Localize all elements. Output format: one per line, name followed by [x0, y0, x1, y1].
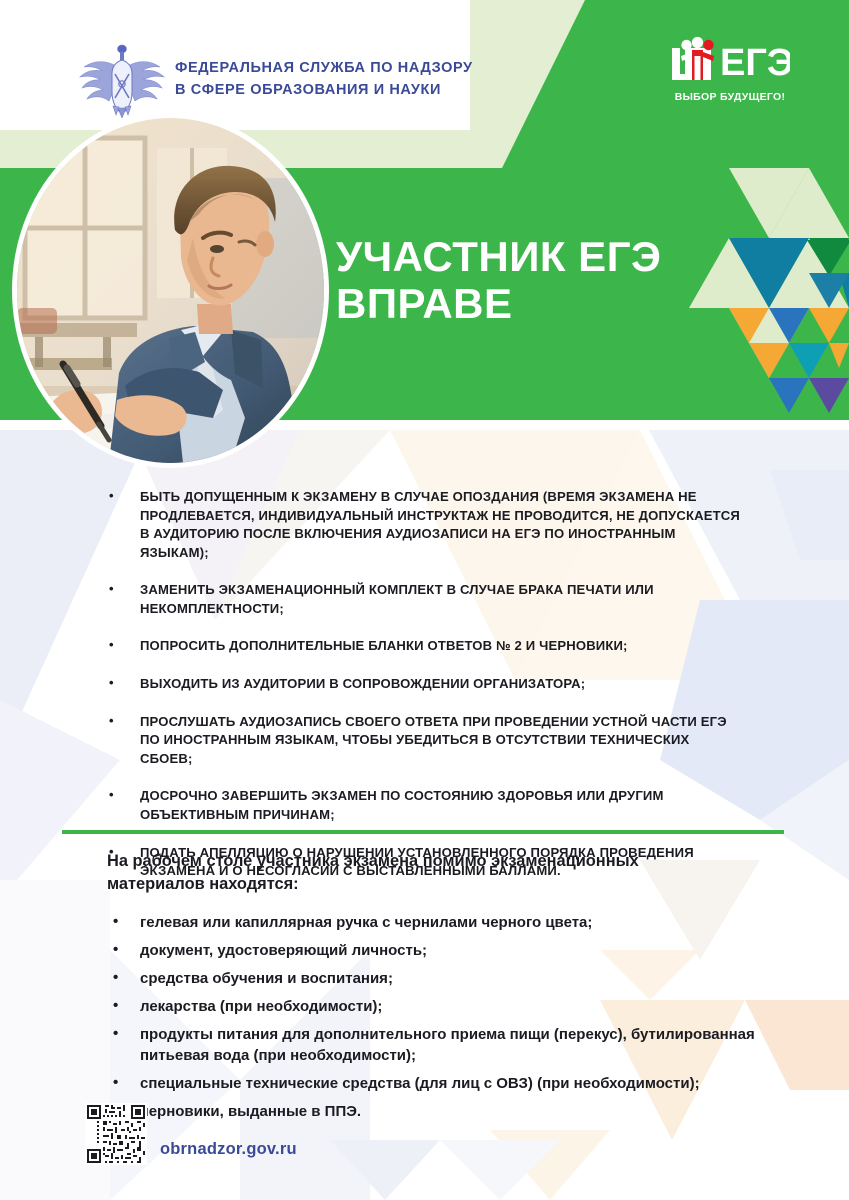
- qr-code[interactable]: [85, 1103, 147, 1165]
- content-area: БЫТЬ ДОПУЩЕННЫМ К ЭКЗАМЕНУ В СЛУЧАЕ ОПОЗ…: [0, 420, 849, 1200]
- list-item: лекарства (при необходимости);: [104, 996, 764, 1017]
- list-item: гелевая или капиллярная ручка с чернилам…: [104, 912, 764, 933]
- section-divider: [62, 830, 784, 834]
- list-item: БЫТЬ ДОПУЩЕННЫМ К ЭКЗАМЕНУ В СЛУЧАЕ ОПОЗ…: [104, 488, 744, 562]
- ege-slogan: ВЫБОР БУДУЩЕГО!: [664, 91, 796, 103]
- student-writing-exam-photo: [17, 118, 324, 463]
- list-item: ПОПРОСИТЬ ДОПОЛНИТЕЛЬНЫЕ БЛАНКИ ОТВЕТОВ …: [104, 637, 744, 656]
- list-item: ЗАМЕНИТЬ ЭКЗАМЕНАЦИОННЫЙ КОМПЛЕКТ В СЛУЧ…: [104, 581, 744, 618]
- list-item: средства обучения и воспитания;: [104, 968, 764, 989]
- svg-text:ЕГЭ: ЕГЭ: [720, 42, 790, 84]
- rosobrnadzor-eagle-emblem: [76, 40, 168, 118]
- ege-logo: ЕГЭ: [668, 34, 790, 86]
- rights-list: БЫТЬ ДОПУЩЕННЫМ К ЭКЗАМЕНУ В СЛУЧАЕ ОПОЗ…: [104, 488, 744, 900]
- list-item: черновики, выданные в ППЭ.: [104, 1101, 764, 1122]
- triangle-mosaic-decoration: [689, 168, 849, 453]
- list-item: документ, удостоверяющий личность;: [104, 940, 764, 961]
- poster-root: ФЕДЕРАЛЬНАЯ СЛУЖБА ПО НАДЗОРУ В СФЕРЕ ОБ…: [0, 0, 849, 1200]
- list-item: ПРОСЛУШАТЬ АУДИОЗАПИСЬ СВОЕГО ОТВЕТА ПРИ…: [104, 713, 744, 769]
- page-title: УЧАСТНИК ЕГЭ ВПРАВЕ: [336, 233, 661, 327]
- list-item: специальные технические средства (для ли…: [104, 1073, 764, 1094]
- desk-section-heading: На рабочем столе участника экзамена поми…: [107, 850, 717, 897]
- site-url-link[interactable]: obrnadzor.gov.ru: [160, 1140, 297, 1159]
- list-item: ВЫХОДИТЬ ИЗ АУДИТОРИИ В СОПРОВОЖДЕНИИ ОР…: [104, 675, 744, 694]
- list-item: продукты питания для дополнительного при…: [104, 1024, 764, 1066]
- desk-items-list: гелевая или капиллярная ручка с чернилам…: [104, 912, 764, 1129]
- organization-title: ФЕДЕРАЛЬНАЯ СЛУЖБА ПО НАДЗОРУ В СФЕРЕ ОБ…: [175, 58, 473, 102]
- list-item: ДОСРОЧНО ЗАВЕРШИТЬ ЭКЗАМЕН ПО СОСТОЯНИЮ …: [104, 787, 744, 824]
